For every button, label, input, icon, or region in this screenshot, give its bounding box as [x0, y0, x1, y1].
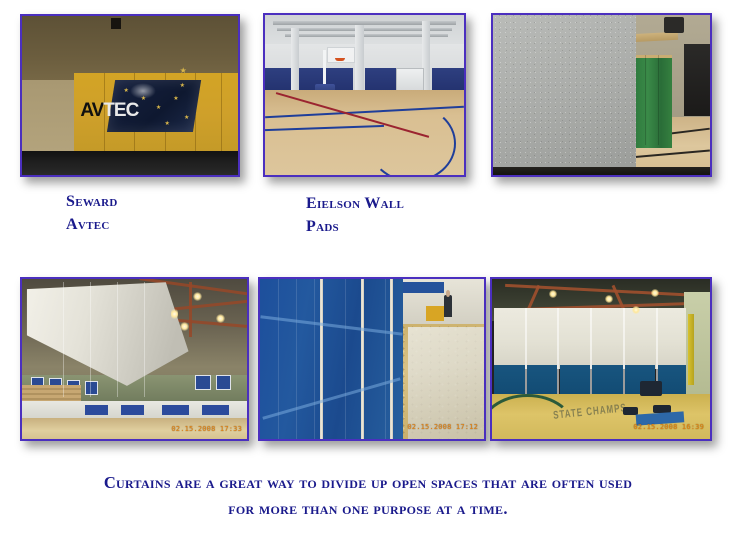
wall-banner: [195, 375, 211, 390]
structural-column: [355, 25, 364, 92]
star-icon: ★: [184, 115, 189, 121]
avtec-logo: AVTEC: [80, 100, 138, 122]
court-arc: [368, 105, 456, 177]
avtec-logo-tec: TEC: [103, 100, 138, 121]
curtain-fold: [117, 282, 118, 397]
curtain-seam: [590, 308, 592, 396]
caption-bottom-line2: for more than one purpose at a time.: [0, 496, 736, 522]
caption-seward: Seward Avtec: [66, 190, 118, 236]
wall-banner: [85, 381, 98, 394]
blue-curtain-panel: [494, 365, 525, 395]
gym-floor: [22, 151, 238, 175]
curtain-seam: [623, 308, 625, 396]
floor-base-trim: [493, 167, 710, 175]
caption-bottom-line1: Curtains are a great way to divide up op…: [0, 470, 736, 496]
curtain-post: [320, 279, 323, 439]
curtain-fold: [296, 279, 297, 439]
worker-figure: [444, 295, 452, 317]
eielson-scene: [265, 15, 464, 175]
ceiling-light: [651, 289, 659, 297]
caption-eielson: Eielson Wall Pads: [306, 192, 404, 238]
photo-green-wall-pad: [491, 13, 712, 177]
curtain-fold: [314, 279, 315, 439]
photo-timestamp: 02.15.2008 17:33: [171, 425, 242, 433]
star-icon: ★: [165, 121, 170, 127]
blue-upper-band: [399, 282, 444, 293]
curtain-post: [361, 279, 364, 439]
photo-timestamp: 02.15.2008 17:12: [407, 423, 478, 431]
star-icon: ★: [141, 96, 146, 102]
ceiling-light: [549, 290, 557, 298]
stacked-equipment: [640, 381, 662, 395]
yellow-post: [688, 314, 693, 384]
photo-blue-curtain-subfloor: 02.15.2008 17:12: [258, 277, 486, 441]
blue-wall-pad: [121, 405, 144, 415]
star-icon: ★: [156, 105, 161, 111]
partition-seam: [645, 55, 646, 145]
pad-seam: [221, 73, 222, 153]
curtain-fold: [90, 282, 91, 397]
curtain-seam: [525, 308, 527, 396]
tan-pad-left: [22, 80, 78, 152]
vent-icon: [111, 18, 122, 29]
photo-white-blue-curtain-court: STATE CHAMPS 02.15.2008 16:39: [490, 277, 712, 441]
roof-truss: [189, 282, 192, 336]
wall-banner: [216, 375, 232, 390]
ceiling-light: [171, 308, 178, 320]
gym-door: [396, 68, 424, 92]
dark-doorway: [684, 44, 710, 116]
blue-wall-pad: [162, 405, 189, 415]
curtain-fold: [345, 279, 346, 439]
greenwall-scene: [493, 15, 710, 175]
photo-seward-avtec: ★ ★ ★ ★ ★ ★ ★ ★ AVTEC: [20, 14, 240, 177]
curtain-seam: [557, 308, 559, 396]
star-icon: ★: [180, 67, 187, 75]
partition-seam: [658, 55, 659, 145]
curtain1-scene: 02.15.2008 17:33: [22, 279, 247, 439]
ceiling-light: [180, 322, 189, 331]
pad-texture: [493, 15, 636, 175]
blue-wall-pad: [202, 405, 229, 415]
curtain2-scene: 02.15.2008 17:12: [260, 279, 484, 439]
blue-curtain-panel: [592, 365, 623, 395]
blue-wall-pad: [85, 405, 108, 415]
blue-wall-pad: [265, 68, 291, 90]
curtain-fold: [63, 282, 64, 397]
partition-motor: [664, 17, 684, 33]
blue-divider-curtain: [260, 279, 403, 439]
structural-column: [291, 28, 299, 92]
worker-head: [446, 290, 450, 296]
ceiling-light: [632, 306, 640, 314]
avtec-logo-av: AV: [80, 100, 103, 121]
ceiling-light: [216, 314, 225, 323]
curtain-fold: [385, 279, 386, 439]
yellow-cart: [426, 306, 444, 320]
star-icon: ★: [124, 88, 129, 94]
green-partition: [632, 55, 672, 148]
star-icon: ★: [180, 83, 185, 89]
photo-eielson-gym: [263, 13, 466, 177]
curtain-fold: [144, 282, 145, 397]
ceiling-light: [193, 292, 202, 301]
star-icon: ★: [173, 96, 178, 102]
photo-white-curtain-fieldhouse: 02.15.2008 17:33: [20, 277, 249, 441]
curtain3-scene: STATE CHAMPS 02.15.2008 16:39: [492, 279, 710, 439]
blue-curtain-panel: [527, 365, 558, 395]
curtain-post: [390, 279, 393, 439]
blue-wall-pad: [432, 68, 464, 90]
photo-timestamp: 02.15.2008 16:39: [633, 423, 704, 431]
blue-curtain-panel: [560, 365, 591, 395]
seward-scene: ★ ★ ★ ★ ★ ★ ★ ★ AVTEC: [22, 16, 238, 175]
